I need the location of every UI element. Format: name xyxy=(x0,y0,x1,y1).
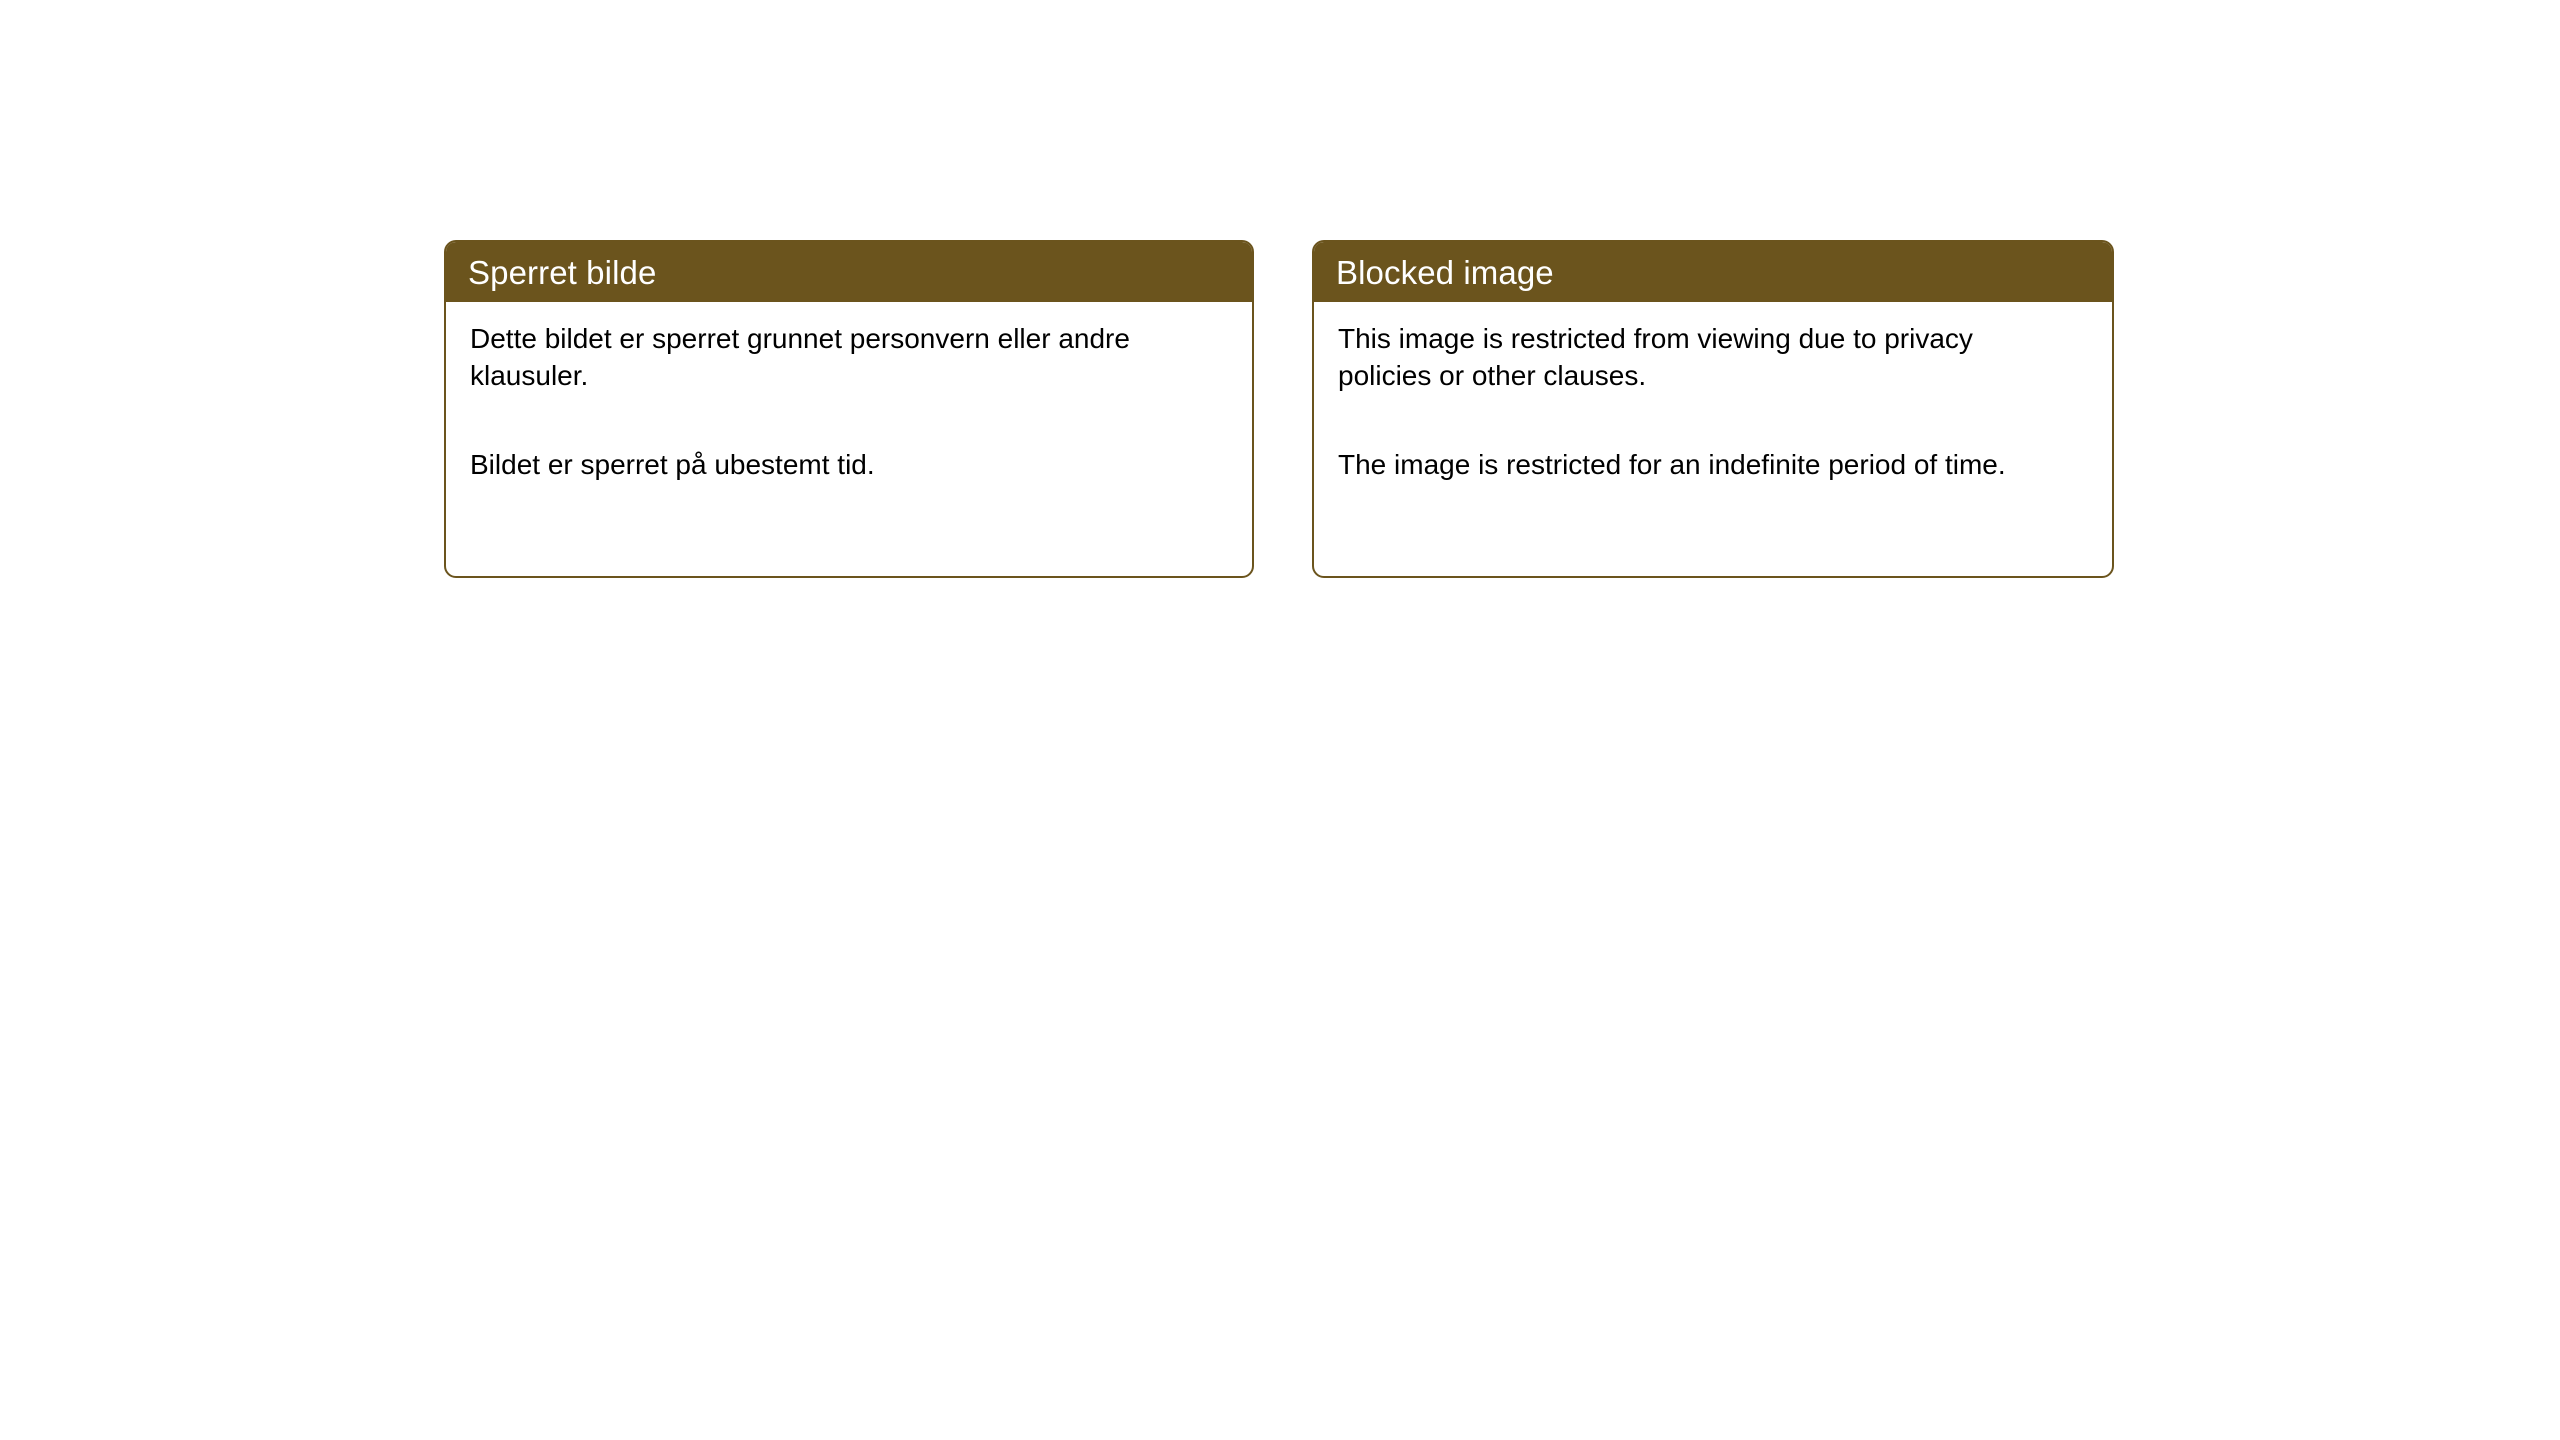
notice-title-english: Blocked image xyxy=(1336,256,1554,289)
notice-paragraph-reason-norwegian: Dette bildet er sperret grunnet personve… xyxy=(470,320,1200,394)
notice-body-norwegian: Dette bildet er sperret grunnet personve… xyxy=(446,302,1252,484)
page-canvas: Sperret bilde Dette bildet er sperret gr… xyxy=(0,0,2560,1440)
notice-paragraph-duration-norwegian: Bildet er sperret på ubestemt tid. xyxy=(470,446,1200,483)
notice-header-english: Blocked image xyxy=(1314,242,2112,302)
blocked-image-notice-norwegian: Sperret bilde Dette bildet er sperret gr… xyxy=(444,240,1254,578)
blocked-image-notice-english: Blocked image This image is restricted f… xyxy=(1312,240,2114,578)
notice-title-norwegian: Sperret bilde xyxy=(468,256,656,289)
notice-body-english: This image is restricted from viewing du… xyxy=(1314,302,2112,484)
notice-paragraph-duration-english: The image is restricted for an indefinit… xyxy=(1338,446,2068,483)
notice-paragraph-reason-english: This image is restricted from viewing du… xyxy=(1338,320,2068,394)
notice-header-norwegian: Sperret bilde xyxy=(446,242,1252,302)
